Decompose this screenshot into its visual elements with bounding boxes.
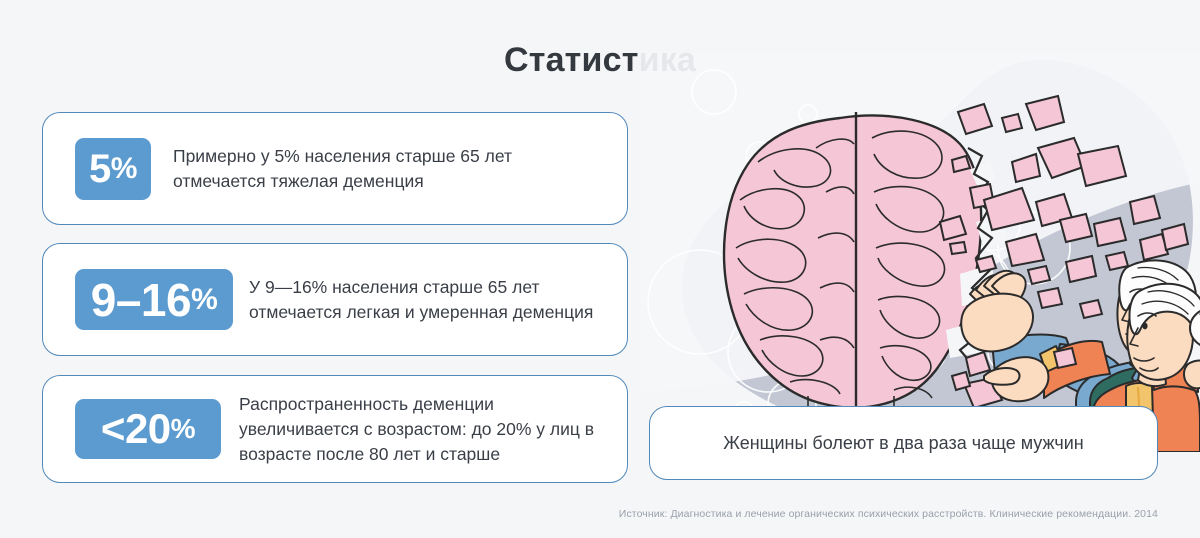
stat-badge-2: 9–16% [75, 269, 233, 330]
note-card-text: Женщины болеют в два раза чаще мужчин [723, 433, 1083, 454]
stat-badge-value-1: 5 [89, 149, 111, 189]
stat-card-2: 9–16% У 9—16% населения старше 65 лет от… [42, 243, 628, 356]
stat-text-1: Примерно у 5% населения старше 65 лет от… [173, 144, 541, 194]
stat-badge-3: <20% [75, 399, 221, 459]
stat-card-3: <20% Распространенность деменции увеличи… [42, 375, 628, 483]
woman-hand-on-shoulder [1184, 361, 1200, 389]
stat-badge-unit-1: % [111, 154, 137, 184]
stat-badge-value-2: 9–16 [91, 277, 191, 323]
source-note: Источник: Диагностика и лечение органиче… [619, 508, 1158, 520]
stat-badge-value-3: <20 [101, 408, 171, 450]
stat-badge-unit-3: % [171, 415, 195, 443]
stat-badge-unit-2: % [191, 285, 217, 315]
stat-text-2: У 9—16% населения старше 65 лет отмечает… [249, 275, 601, 325]
brain-and-couple-illustration [640, 52, 1200, 452]
stat-text-3: Распространенность деменции увеличиваетс… [239, 392, 597, 467]
illustration-panel [640, 52, 1200, 452]
note-card: Женщины болеют в два раза чаще мужчин [649, 406, 1158, 480]
stat-card-1: 5% Примерно у 5% населения старше 65 лет… [42, 112, 628, 225]
stat-badge-1: 5% [75, 138, 151, 200]
infographic-page: Статистика [0, 0, 1200, 538]
